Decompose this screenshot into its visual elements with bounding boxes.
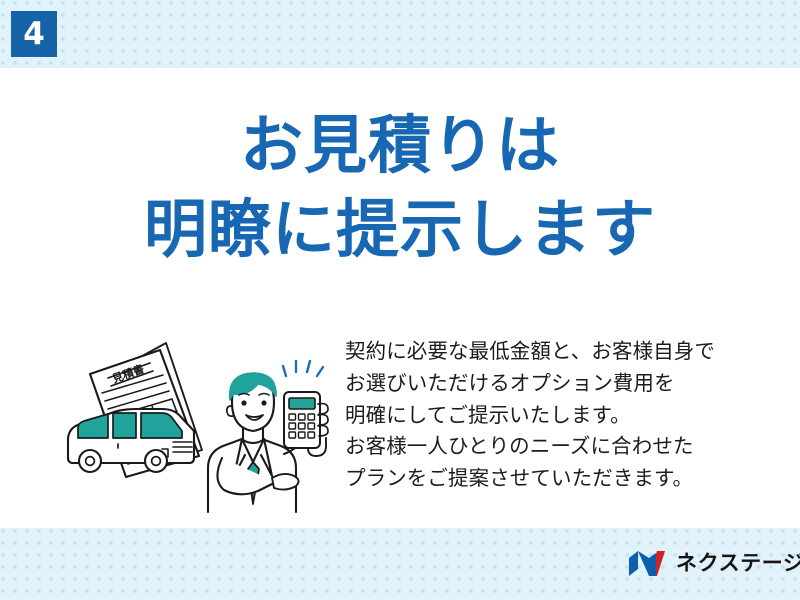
calculator-illustration	[284, 392, 328, 456]
step-number-label: 4	[23, 19, 45, 50]
brand-logo-text: ネクステージ	[676, 553, 800, 574]
nextage-n-mark-icon	[627, 549, 667, 578]
sparkle-icon	[283, 361, 323, 376]
body-line-3: 明確にしてご提示いたします。	[345, 400, 765, 432]
illustration-salesman-quote: 見積書	[62, 330, 342, 515]
van-illustration	[68, 409, 194, 472]
brand-logo: ネクステージ	[627, 549, 800, 578]
illustration-svg: 見積書	[62, 330, 342, 515]
body-line-4: お客様一人ひとりのニーズに合わせた	[345, 431, 765, 463]
headline-line-1: お見積りは	[0, 104, 800, 188]
body-line-1: 契約に必要な最低金額と、お客様自身で	[345, 336, 765, 368]
step-number-badge: 4	[11, 11, 57, 57]
slide-canvas: 4 お見積りは 明瞭に提示します 契約に必要な最低金額と、お客様自身で お選びい…	[0, 0, 800, 600]
headline-line-2: 明瞭に提示します	[0, 188, 800, 272]
headline: お見積りは 明瞭に提示します	[0, 104, 800, 272]
body-copy: 契約に必要な最低金額と、お客様自身で お選びいただけるオプション費用を 明確にし…	[345, 336, 765, 495]
top-dotted-band	[0, 0, 800, 68]
body-line-5: プランをご提案させていただきます。	[345, 463, 765, 495]
body-line-2: お選びいただけるオプション費用を	[345, 368, 765, 400]
